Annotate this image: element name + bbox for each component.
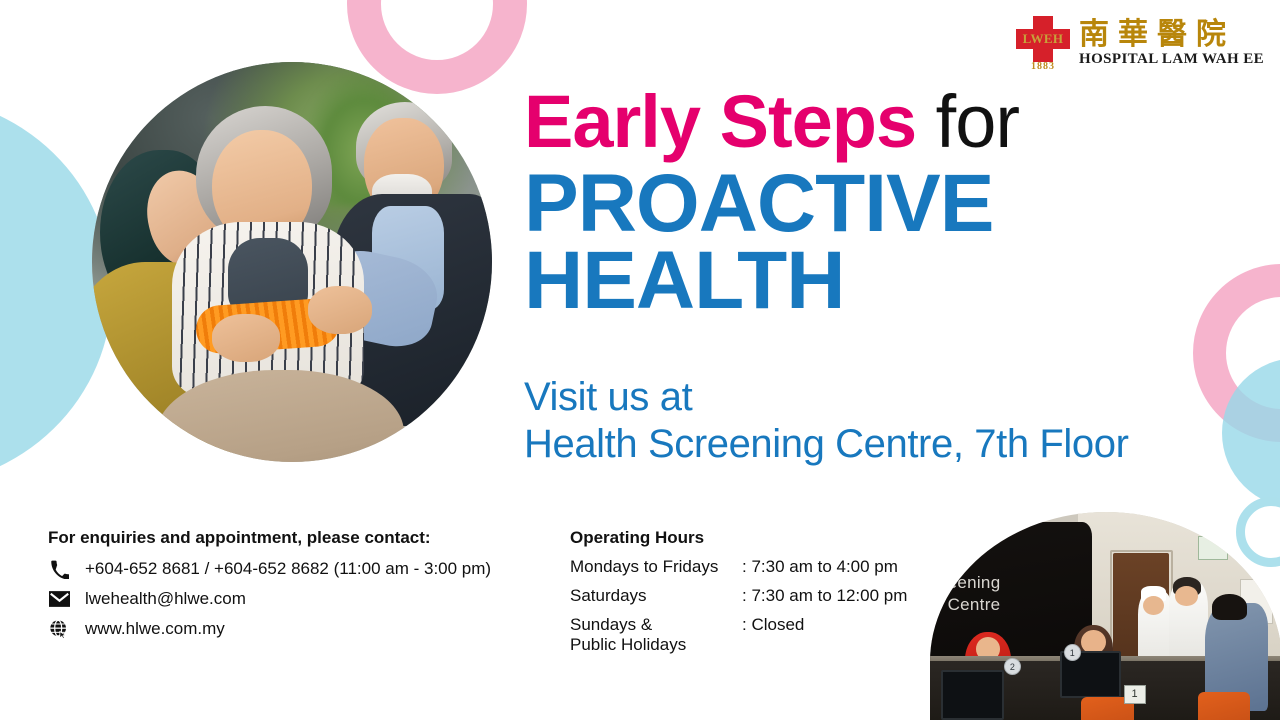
logo-badge-year: 1883: [1016, 61, 1070, 72]
operating-hours-value: : 7:30 am to 12:00 pm: [742, 586, 907, 615]
operating-hours-value: : Closed: [742, 615, 907, 664]
red-cross-icon: LWEH 1883: [1016, 16, 1070, 72]
operating-hours-row: Mondays to Fridays: 7:30 am to 4:00 pm: [570, 557, 907, 586]
logo-chinese-name: 南華醫院: [1079, 20, 1264, 50]
headline-block: Early Steps for PROACTIVE HEALTH: [524, 86, 1280, 319]
operating-hours-day: Saturdays: [570, 586, 742, 615]
headline-health: HEALTH: [524, 242, 1280, 319]
hand-lower: [212, 314, 280, 362]
subheading-line-1: Visit us at: [524, 374, 1129, 421]
logo-badge-text: LWEH: [1016, 31, 1070, 47]
globe-icon: [48, 619, 70, 639]
orange-chair-right: [1198, 692, 1251, 720]
headline-line-1: Early Steps for: [524, 86, 1280, 157]
contact-row-email[interactable]: lwehealth@hlwe.com: [48, 589, 568, 609]
contact-phone: +604-652 8681 / +604-652 8682 (11:00 am …: [85, 559, 491, 579]
signage-line-1: lth: [948, 550, 1001, 572]
operating-hours-row: Saturdays: 7:30 am to 12:00 pm: [570, 586, 907, 615]
operating-hours-row: Sundays &Public Holidays: Closed: [570, 615, 907, 664]
contact-row-phone[interactable]: +604-652 8681 / +604-652 8682 (11:00 am …: [48, 559, 568, 579]
contact-website: www.hlwe.com.my: [85, 619, 225, 639]
contact-title: For enquiries and appointment, please co…: [48, 528, 568, 548]
blue-circle-right-decoration: [1222, 358, 1280, 508]
logo-english-name: HOSPITAL LAM WAH EE: [1079, 51, 1264, 68]
centre-signage-text: lth eening Centre: [948, 550, 1001, 615]
operating-hours-block: Operating Hours Mondays to Fridays: 7:30…: [570, 528, 907, 664]
contact-email: lwehealth@hlwe.com: [85, 589, 246, 609]
operating-hours-table: Mondays to Fridays: 7:30 am to 4:00 pmSa…: [570, 557, 907, 664]
counter-number-1: 1: [1064, 644, 1081, 661]
operating-hours-title: Operating Hours: [570, 528, 907, 548]
signage-line-2: eening: [948, 572, 1001, 594]
counter-number-box: 1: [1124, 685, 1146, 704]
poster-canvas: LWEH 1883 南華醫院 HOSPITAL LAM WAH EE Early…: [0, 0, 1280, 720]
headline-for: for: [916, 80, 1019, 163]
hospital-logo: LWEH 1883 南華醫院 HOSPITAL LAM WAH EE: [1016, 16, 1264, 72]
hand-upper: [308, 286, 372, 334]
headline-early-steps: Early Steps: [524, 80, 916, 163]
operating-hours-rows: Mondays to Fridays: 7:30 am to 4:00 pmSa…: [570, 557, 907, 664]
family-photo: [92, 62, 492, 462]
headline-proactive: PROACTIVE: [524, 165, 1280, 242]
operating-hours-day: Sundays &Public Holidays: [570, 615, 742, 664]
subheading-block: Visit us at Health Screening Centre, 7th…: [524, 374, 1129, 468]
envelope-icon: [48, 589, 70, 609]
health-screening-centre-photo: lth eening Centre 1 2 1: [930, 512, 1280, 720]
operating-hours-day: Mondays to Fridays: [570, 557, 742, 586]
wall-notice: [1198, 536, 1228, 560]
contact-block: For enquiries and appointment, please co…: [48, 528, 568, 649]
operating-hours-value: : 7:30 am to 4:00 pm: [742, 557, 907, 586]
contact-row-website[interactable]: www.hlwe.com.my: [48, 619, 568, 639]
monitor-left: [941, 670, 1005, 720]
subheading-line-2: Health Screening Centre, 7th Floor: [524, 421, 1129, 468]
phone-icon: [48, 559, 70, 579]
signage-line-3: Centre: [948, 594, 1001, 616]
